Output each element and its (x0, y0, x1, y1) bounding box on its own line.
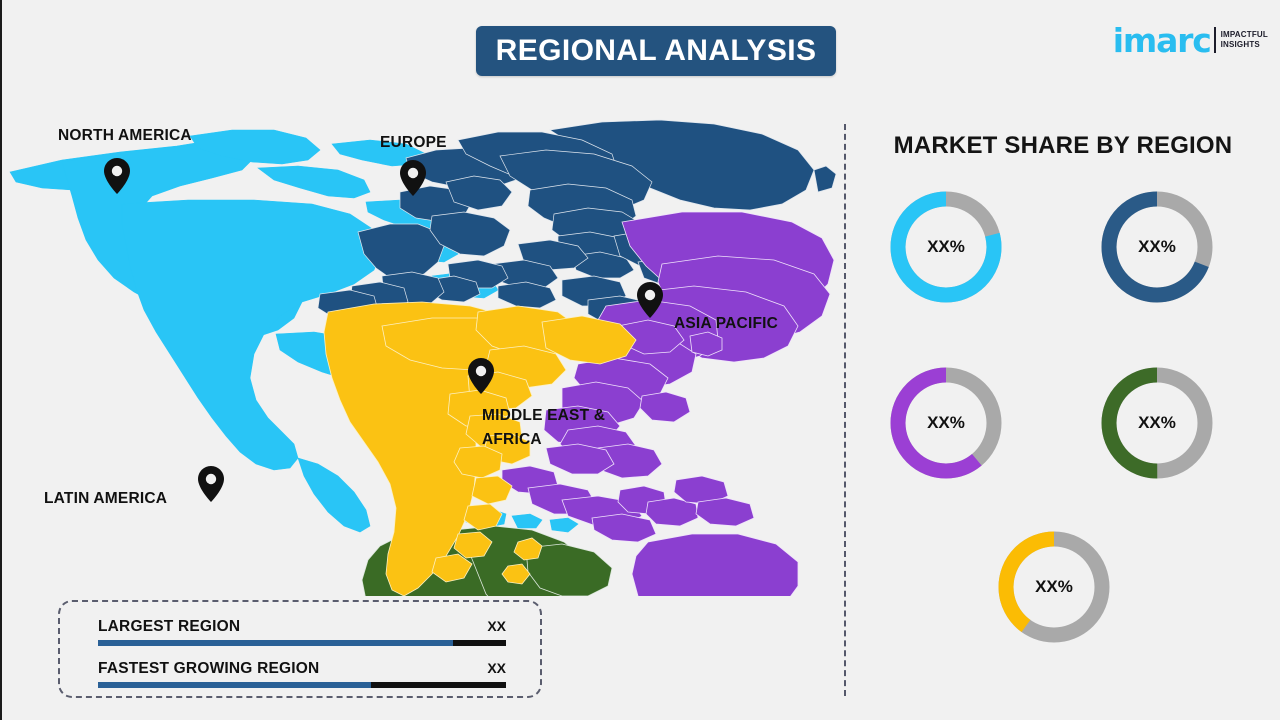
map-label-middle-east-africa-line2: AFRICA (482, 430, 542, 451)
donut-north-america: XX% (887, 188, 1005, 306)
map-pin-middle-east-africa[interactable] (468, 358, 494, 394)
donut-middle-east-africa: XX% (995, 528, 1113, 646)
page-title-banner: REGIONAL ANALYSIS (476, 26, 836, 76)
map-pin-north-america[interactable] (104, 158, 130, 194)
imarc-logo: imarc IMPACTFUL INSIGHTS (1113, 22, 1268, 58)
donut-latin-america: XX% (1098, 364, 1216, 482)
map-label-middle-east-africa-line1: MIDDLE EAST & (482, 406, 605, 427)
map-label-europe: EUROPE (380, 133, 447, 154)
regional-analysis-infographic: REGIONAL ANALYSIS imarc IMPACTFUL INSIGH… (0, 0, 1280, 720)
logo-wordmark: imarc (1113, 24, 1211, 57)
world-map: NORTH AMERICA EUROPE ASIA PACIFIC MIDDLE… (2, 96, 842, 596)
fastest-growing-region-head: FASTEST GROWING REGION XX (98, 660, 506, 678)
largest-region-head: LARGEST REGION XX (98, 618, 506, 636)
donut-middle-east-africa-label: XX% (995, 528, 1113, 646)
market-share-title: MARKET SHARE BY REGION (858, 132, 1268, 160)
donut-north-america-label: XX% (887, 188, 1005, 306)
map-pin-latin-america[interactable] (198, 466, 224, 502)
logo-divider (1214, 27, 1216, 53)
donut-asia-pacific-label: XX% (887, 364, 1005, 482)
fastest-growing-region-label: FASTEST GROWING REGION (98, 660, 319, 678)
market-share-panel: MARKET SHARE BY REGION XX% XX% XX% XX% X… (858, 124, 1268, 696)
fastest-growing-region-value: XX (487, 660, 506, 676)
donut-latin-america-label: XX% (1098, 364, 1216, 482)
largest-region-value: XX (487, 618, 506, 634)
map-pin-europe[interactable] (400, 160, 426, 196)
largest-region-row: LARGEST REGION XX (98, 618, 506, 646)
donut-europe: XX% (1098, 188, 1216, 306)
logo-tagline-line2: INSIGHTS (1221, 40, 1268, 50)
donut-europe-label: XX% (1098, 188, 1216, 306)
map-label-asia-pacific: ASIA PACIFIC (674, 314, 778, 335)
fastest-growing-region-row: FASTEST GROWING REGION XX (98, 660, 506, 688)
logo-tagline-line1: IMPACTFUL (1221, 30, 1268, 40)
fastest-growing-region-bar (98, 682, 506, 688)
largest-region-bar (98, 640, 506, 646)
fastest-growing-region-bar-fill (98, 682, 371, 688)
donut-asia-pacific: XX% (887, 364, 1005, 482)
map-label-latin-america: LATIN AMERICA (44, 489, 167, 510)
page-title: REGIONAL ANALYSIS (496, 34, 817, 68)
map-pin-asia-pacific[interactable] (637, 282, 663, 318)
largest-region-bar-fill (98, 640, 453, 646)
logo-tagline: IMPACTFUL INSIGHTS (1221, 30, 1268, 50)
largest-region-label: LARGEST REGION (98, 618, 240, 636)
panel-divider (844, 124, 846, 696)
map-label-north-america: NORTH AMERICA (58, 126, 192, 147)
region-summary-box: LARGEST REGION XX FASTEST GROWING REGION… (58, 600, 542, 698)
